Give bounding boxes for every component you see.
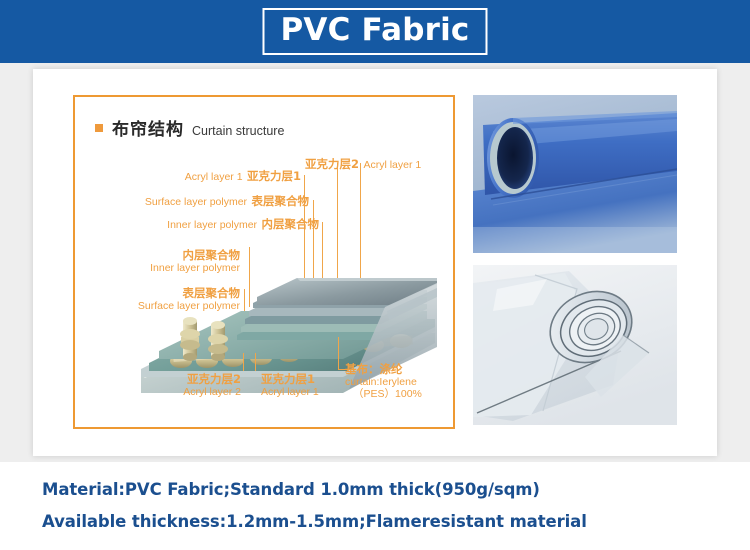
leader-line-base-curtain xyxy=(338,337,339,369)
callout-base-curtain-extra: （PES）100% xyxy=(345,388,422,400)
blue-pvc-roll-image xyxy=(473,95,677,253)
diagram-heading-en: Curtain structure xyxy=(192,124,284,138)
spec-line-thickness: Available thickness:1.2mm-1.5mm;Flameres… xyxy=(42,512,587,531)
curtain-structure-diagram: 布帘结构 Curtain structure Acryl layer 1 亚克力… xyxy=(73,95,455,429)
callout-inner-layer-polymer-top: Inner layer polymer 内层聚合物 xyxy=(89,215,319,233)
photo-clear-pvc-roll xyxy=(473,265,677,425)
page-header: PVC Fabric xyxy=(0,0,750,63)
diagram-heading-cn: 布帘结构 xyxy=(112,115,184,140)
callout-surface-layer-polymer-top: Surface layer polymer 表层聚合物 xyxy=(85,192,309,210)
content-card: 布帘结构 Curtain structure Acryl layer 1 亚克力… xyxy=(33,69,717,456)
clear-pvc-roll-image xyxy=(473,265,677,425)
callout-acryl-layer-2-right: 亚克力层2 Acryl layer 1 xyxy=(305,155,421,173)
page-title: PVC Fabric xyxy=(280,11,469,49)
callout-acryl-layer-2-bottom: 亚克力层2 Acryl layer 2 xyxy=(175,373,241,398)
callout-acryl-layer-1-bottom: 亚克力层1 Acryl layer 1 xyxy=(261,373,319,398)
callout-acryl-layer-1-top: Acryl layer 1 亚克力层1 xyxy=(105,167,301,185)
page-title-box: PVC Fabric xyxy=(262,8,487,55)
photo-blue-pvc-roll xyxy=(473,95,677,253)
callout-base-curtain: 基布：涤纶 curtain:Ierylene （PES）100% xyxy=(345,363,422,400)
diagram-heading: 布帘结构 Curtain structure xyxy=(95,115,284,140)
spec-line-material: Material:PVC Fabric;Standard 1.0mm thick… xyxy=(42,480,540,499)
bullet-square-icon xyxy=(95,124,103,132)
callout-inner-layer-polymer-left: 内层聚合物 Inner layer polymer xyxy=(115,249,240,274)
spec-footer: Material:PVC Fabric;Standard 1.0mm thick… xyxy=(0,462,750,550)
leader-line-acryl1-bottom xyxy=(255,353,256,371)
page-body: 布帘结构 Curtain structure Acryl layer 1 亚克力… xyxy=(0,63,750,462)
leader-line-acryl2-bottom xyxy=(243,353,244,371)
